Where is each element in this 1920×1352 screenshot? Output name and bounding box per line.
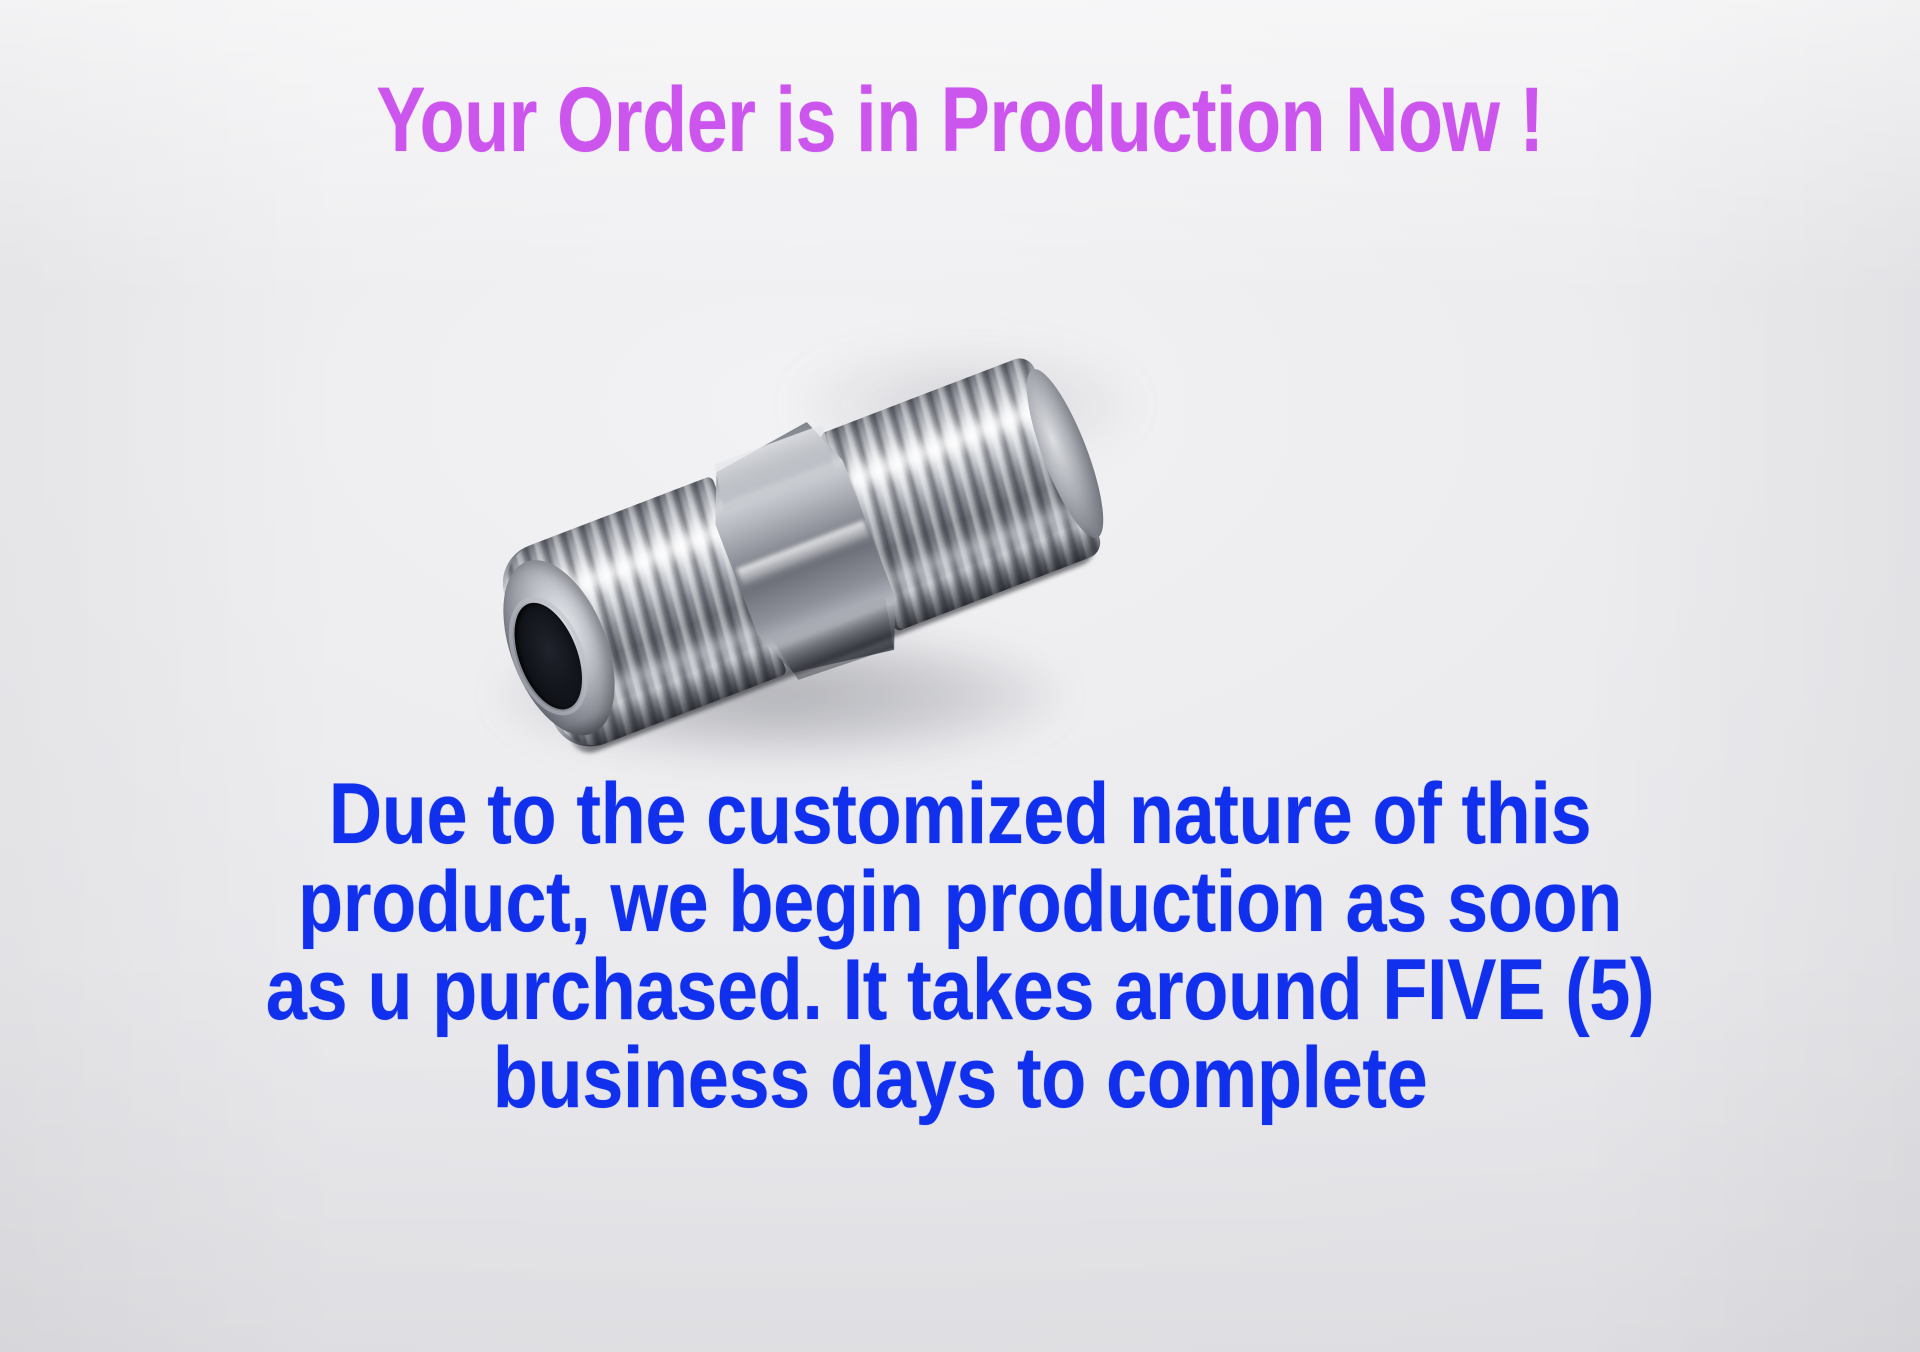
promotional-banner: Your Order is in Production Now ! <box>0 0 1920 1352</box>
page-title: Your Order is in Production Now ! <box>192 74 1728 166</box>
body-copy-line-4: business days to complete <box>134 1034 1785 1122</box>
product-image <box>470 330 1110 800</box>
body-copy-line-3: as u purchased. It takes around FIVE (5) <box>134 946 1785 1034</box>
body-copy-line-1: Due to the customized nature of this <box>134 770 1785 858</box>
body-copy: Due to the customized nature of this pro… <box>0 770 1920 1122</box>
body-copy-line-2: product, we begin production as soon <box>134 858 1785 946</box>
